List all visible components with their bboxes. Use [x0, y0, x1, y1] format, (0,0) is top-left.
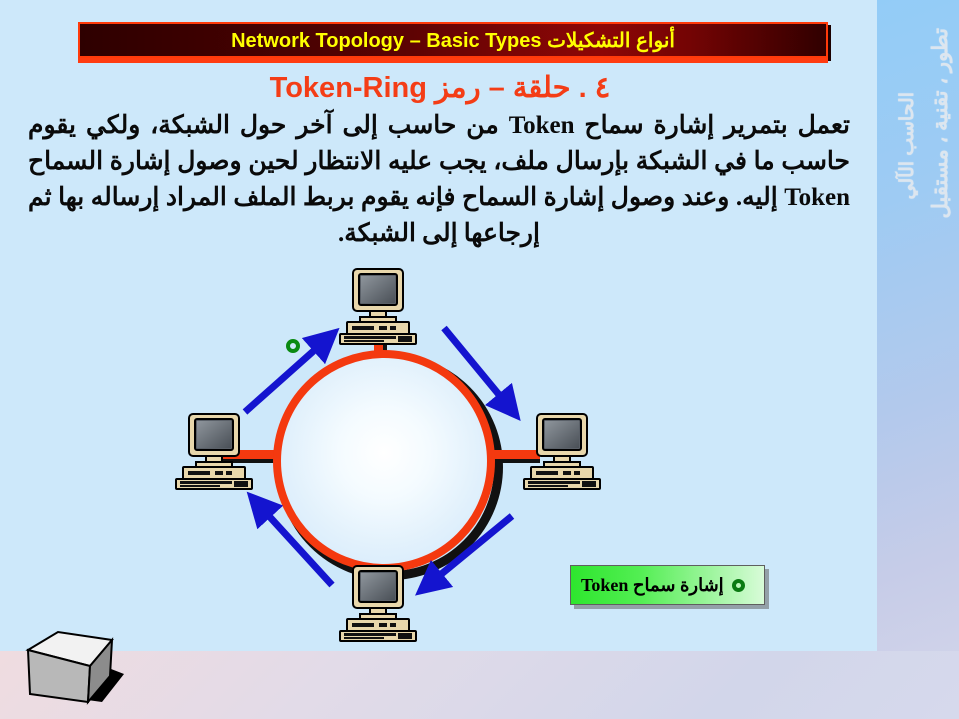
token-marker-icon: [286, 339, 300, 353]
green-ring-icon: [732, 579, 745, 592]
sidebar-text-line-2: الحاسب الآلي: [897, 92, 919, 199]
slide-canvas: تطور ، تقنية ، مستقبل الحاسب الآلي أنواع…: [0, 0, 959, 719]
page-title: ٤ . حلقة – رمز Token-Ring: [40, 70, 840, 105]
sidebar-panel: تطور ، تقنية ، مستقبل الحاسب الآلي: [877, 0, 959, 651]
sidebar-text-line-1: تطور ، تقنية ، مستقبل: [929, 28, 953, 219]
computer-icon: [168, 413, 260, 491]
keyboard-key-icon: [14, 628, 132, 710]
title-banner: أنواع التشكيلات Network Topology – Basic…: [78, 22, 828, 58]
computer-node-top: [332, 268, 424, 346]
computer-node-bottom: [332, 565, 424, 643]
page-number-key: ١١٥: [14, 628, 132, 710]
computer-icon: [332, 268, 424, 346]
computer-icon: [332, 565, 424, 643]
legend-box: إشارة سماح Token: [570, 565, 765, 605]
ring-network-circle: [273, 350, 495, 572]
title-banner-text: أنواع التشكيلات Network Topology – Basic…: [231, 28, 675, 53]
legend-label: إشارة سماح Token: [581, 575, 724, 596]
title-underline: [78, 58, 828, 63]
computer-node-left: [168, 413, 260, 491]
body-paragraph: تعمل بتمرير إشارة سماح Token من حاسب إلى…: [28, 108, 850, 252]
computer-icon: [516, 413, 608, 491]
computer-node-right: [516, 413, 608, 491]
